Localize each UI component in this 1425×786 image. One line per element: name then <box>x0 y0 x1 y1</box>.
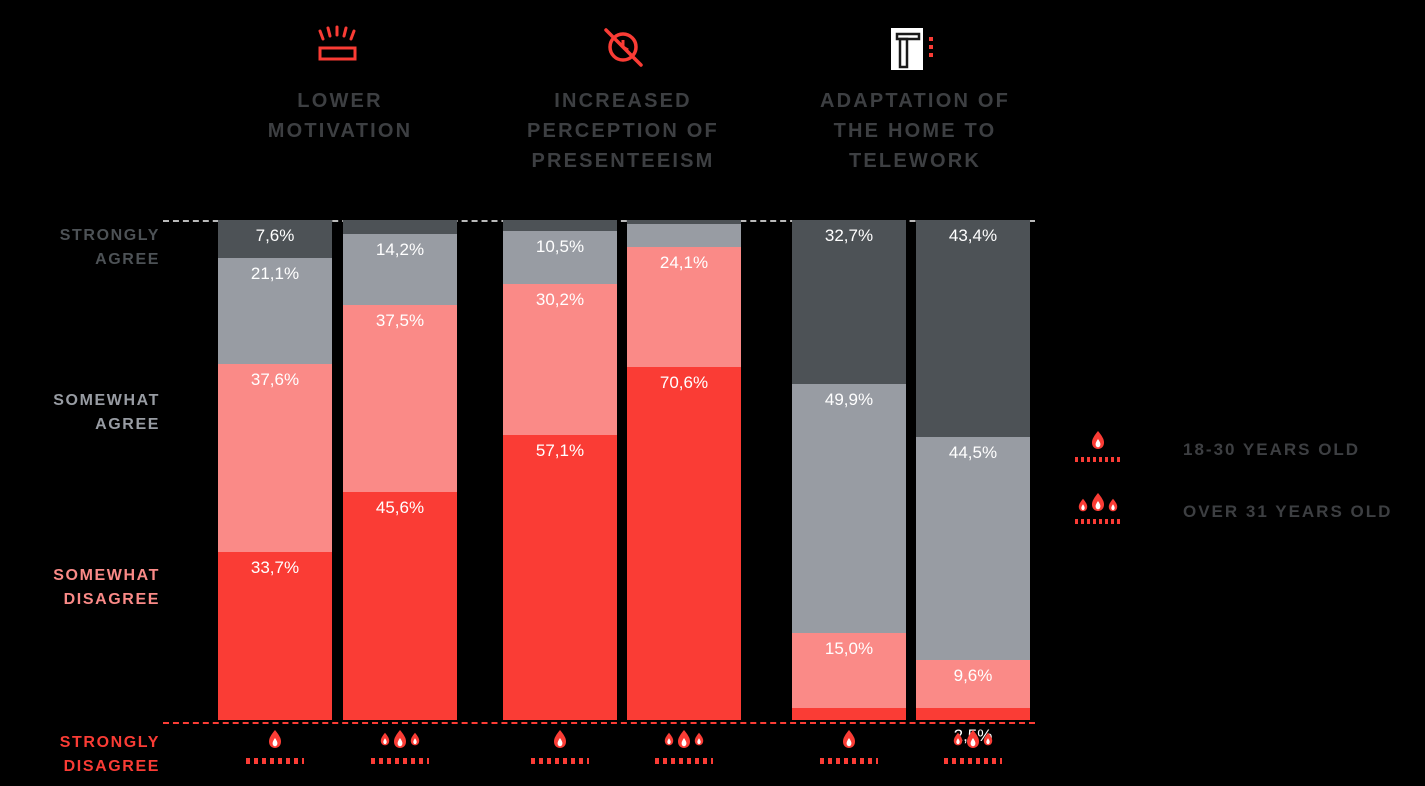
three-flames-icon <box>1068 488 1128 524</box>
segment-value-label: 70,6% <box>627 373 741 393</box>
bar-segment: 49,9% <box>792 384 906 634</box>
legend-rule <box>1075 519 1121 524</box>
segment-value-label: 21,1% <box>218 264 332 284</box>
legend-item-over-31[interactable]: OVER 31 YEARS OLD <box>1068 462 1408 524</box>
legend-label: 18-30 YEARS OLD <box>1183 440 1360 462</box>
segment-value-label: 44,5% <box>916 443 1030 463</box>
flame-icon <box>1091 430 1105 450</box>
bar-segment: 43,4% <box>916 220 1030 437</box>
stacked-bar[interactable]: 32,7%49,9%15,0% <box>792 220 906 720</box>
one-flame-icon <box>1068 426 1128 462</box>
flame-group <box>343 726 457 752</box>
bar-segment: 32,7% <box>792 220 906 384</box>
axis-label-somewhat-agree: SOMEWHAT AGREE <box>20 389 160 437</box>
flame-group <box>792 726 906 752</box>
desk-icon <box>805 8 1025 86</box>
bar-segment <box>343 220 457 234</box>
stacked-bar[interactable]: 43,4%44,5%9,6%2,5% <box>916 220 1030 720</box>
bar-foot-mark <box>627 726 741 764</box>
segment-value-label: 33,7% <box>218 558 332 578</box>
foot-rule <box>944 758 1002 764</box>
flame-icon <box>694 732 704 746</box>
column-title-line: INCREASED <box>513 86 733 116</box>
plot-area: 7,6%21,1%37,6%33,7%14,2%37,5%45,6%10,5%3… <box>163 220 1035 722</box>
legend-label: OVER 31 YEARS OLD <box>1183 502 1392 524</box>
column-header-lower-motivation: LOWER MOTIVATION <box>230 8 450 146</box>
bar-segment: 30,2% <box>503 284 617 435</box>
bar-segment: 33,7% <box>218 552 332 721</box>
segment-value-label: 57,1% <box>503 441 617 461</box>
flame-icon <box>953 732 963 746</box>
segment-value-label: 37,6% <box>218 370 332 390</box>
flame-icon <box>1078 498 1088 512</box>
bar-foot-mark <box>916 726 1030 764</box>
bar-foot-mark <box>792 726 906 764</box>
flame-icon <box>1091 492 1105 512</box>
bar-segment: 37,5% <box>343 305 457 493</box>
segment-value-label: 14,2% <box>343 240 457 260</box>
foot-rule <box>655 758 713 764</box>
bar-foot-mark <box>218 726 332 764</box>
flame-icon <box>268 729 282 749</box>
bar-segment: 24,1% <box>627 247 741 368</box>
bar-segment: 9,6% <box>916 660 1030 708</box>
flame-icon <box>677 729 691 749</box>
segment-value-label: 24,1% <box>627 253 741 273</box>
flame-icon <box>393 729 407 749</box>
foot-rule <box>371 758 429 764</box>
flame-group <box>503 726 617 752</box>
column-header-presenteeism: INCREASED PERCEPTION OF PRESENTEEISM <box>513 8 733 176</box>
legend: 18-30 YEARS OLD OVER 31 YEARS OLD <box>1068 400 1408 524</box>
axis-label-line: DISAGREE <box>20 588 160 612</box>
foot-rule <box>246 758 304 764</box>
column-header-home-adaptation: ADAPTATION OF THE HOME TO TELEWORK <box>805 8 1025 176</box>
axis-label-somewhat-disagree: SOMEWHAT DISAGREE <box>20 564 160 612</box>
column-title-line: MOTIVATION <box>230 116 450 146</box>
segment-value-label: 9,6% <box>916 666 1030 686</box>
column-title-line: PRESENTEEISM <box>513 146 733 176</box>
bar-segment: 70,6% <box>627 367 741 720</box>
stacked-bar[interactable]: 4,6%24,1%70,6% <box>627 220 741 720</box>
flame-icon <box>842 729 856 749</box>
bar-segment: 37,6% <box>218 364 332 552</box>
stacked-bar[interactable]: 14,2%37,5%45,6% <box>343 220 457 720</box>
flame-group <box>1068 426 1128 450</box>
foot-rule <box>531 758 589 764</box>
segment-value-label: 32,7% <box>792 226 906 246</box>
column-title-line: PERCEPTION OF <box>513 116 733 146</box>
flame-icon <box>553 729 567 749</box>
bar-segment: 4,6% <box>627 224 741 247</box>
flame-icon <box>380 732 390 746</box>
stacked-bar[interactable]: 10,5%30,2%57,1% <box>503 220 617 720</box>
stacked-bar[interactable]: 7,6%21,1%37,6%33,7% <box>218 220 332 720</box>
segment-value-label: 7,6% <box>218 226 332 246</box>
axis-label-strongly-disagree: STRONGLY DISAGREE <box>20 731 160 779</box>
bar-segment: 15,0% <box>792 633 906 708</box>
axis-label-line: STRONGLY <box>30 224 160 248</box>
bar-segment <box>503 220 617 231</box>
flame-icon <box>966 729 980 749</box>
bar-segment: 44,5% <box>916 437 1030 660</box>
bar-segment: 10,5% <box>503 231 617 284</box>
axis-label-line: DISAGREE <box>20 755 160 779</box>
flame-icon <box>983 732 993 746</box>
bar-segment: 21,1% <box>218 258 332 364</box>
axis-label-strongly-agree: STRONGLY AGREE <box>30 224 160 272</box>
segment-value-label: 10,5% <box>503 237 617 257</box>
foot-rule <box>820 758 878 764</box>
gridline-baseline <box>163 722 1035 724</box>
no-clock-icon <box>513 8 733 86</box>
column-title-line: LOWER <box>230 86 450 116</box>
segment-value-label: 30,2% <box>503 290 617 310</box>
bar-segment: 45,6% <box>343 492 457 720</box>
bar-segment: 7,6% <box>218 220 332 258</box>
flame-icon <box>664 732 674 746</box>
legend-item-18-30[interactable]: 18-30 YEARS OLD <box>1068 400 1408 462</box>
bar-foot-mark <box>343 726 457 764</box>
axis-label-line: STRONGLY <box>20 731 160 755</box>
column-title-line: ADAPTATION OF <box>805 86 1025 116</box>
bar-segment: 57,1% <box>503 435 617 721</box>
segment-value-label: 49,9% <box>792 390 906 410</box>
bar-segment: 2,5% <box>916 708 1030 721</box>
axis-label-line: AGREE <box>20 413 160 437</box>
bar-segment <box>792 708 906 720</box>
segment-value-label: 43,4% <box>916 226 1030 246</box>
legend-rule <box>1075 457 1121 462</box>
segment-value-label: 45,6% <box>343 498 457 518</box>
stacked-bar-chart: LOWER MOTIVATION INCREASED PERCEPTION OF… <box>0 0 1425 786</box>
flame-group <box>1068 488 1128 512</box>
axis-label-line: AGREE <box>30 248 160 272</box>
flame-group <box>916 726 1030 752</box>
dimmed-light-bulb-icon <box>230 8 450 86</box>
axis-label-line: SOMEWHAT <box>20 564 160 588</box>
flame-group <box>218 726 332 752</box>
column-title-line: THE HOME TO <box>805 116 1025 146</box>
flame-icon <box>1108 498 1118 512</box>
segment-value-label: 15,0% <box>792 639 906 659</box>
bar-foot-mark <box>503 726 617 764</box>
column-title-line: TELEWORK <box>805 146 1025 176</box>
bar-segment: 14,2% <box>343 234 457 305</box>
axis-label-line: SOMEWHAT <box>20 389 160 413</box>
flame-group <box>627 726 741 752</box>
flame-icon <box>410 732 420 746</box>
segment-value-label: 37,5% <box>343 311 457 331</box>
